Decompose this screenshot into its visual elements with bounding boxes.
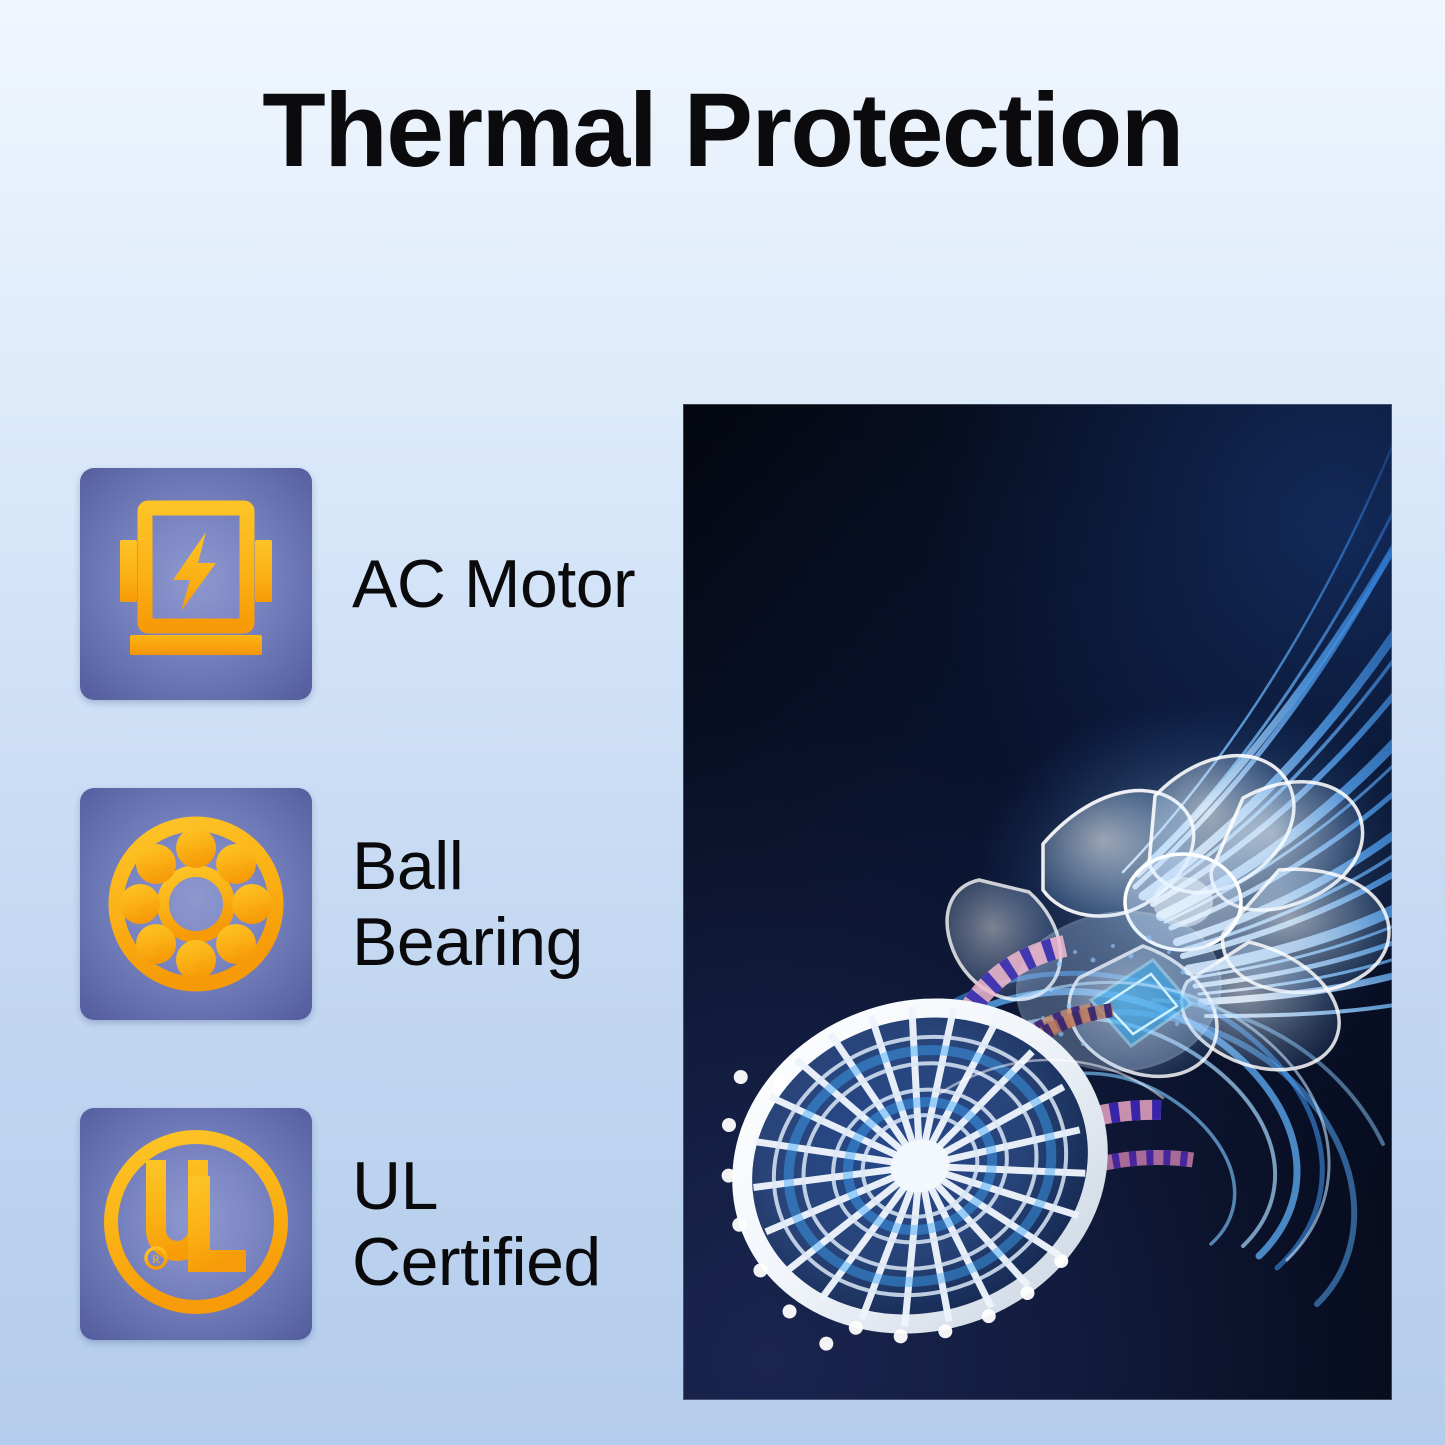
ul-certified-tile: R xyxy=(80,1108,312,1340)
title-container: Thermal Protection xyxy=(0,74,1445,187)
fan-motor-airflow-photo xyxy=(683,404,1392,1400)
feature-item-ul-certified: R UL Certified xyxy=(80,1108,640,1340)
feature-label-line: UL xyxy=(352,1148,601,1224)
feature-label-ul-certified: UL Certified xyxy=(352,1148,601,1300)
ul-certified-icon: R xyxy=(80,1108,312,1340)
feature-label-line: Bearing xyxy=(352,904,583,980)
feature-label-ball-bearing: Ball Bearing xyxy=(352,828,583,980)
feature-list: AC Motor xyxy=(80,468,640,1340)
registered-mark-glyph: R xyxy=(152,1252,160,1266)
fan-motor-illustration xyxy=(683,404,1392,1400)
ball-bearing-tile xyxy=(80,788,312,1020)
feature-label-ac-motor: AC Motor xyxy=(352,546,635,622)
feature-item-ac-motor: AC Motor xyxy=(80,468,640,700)
feature-label-line: AC Motor xyxy=(352,546,635,622)
page-title: Thermal Protection xyxy=(7,74,1438,187)
feature-label-line: Certified xyxy=(352,1224,601,1300)
ac-motor-icon xyxy=(80,468,312,700)
feature-label-line: Ball xyxy=(352,828,583,904)
ball-bearing-icon xyxy=(80,788,312,1020)
ac-motor-tile xyxy=(80,468,312,700)
feature-item-ball-bearing: Ball Bearing xyxy=(80,788,640,1020)
